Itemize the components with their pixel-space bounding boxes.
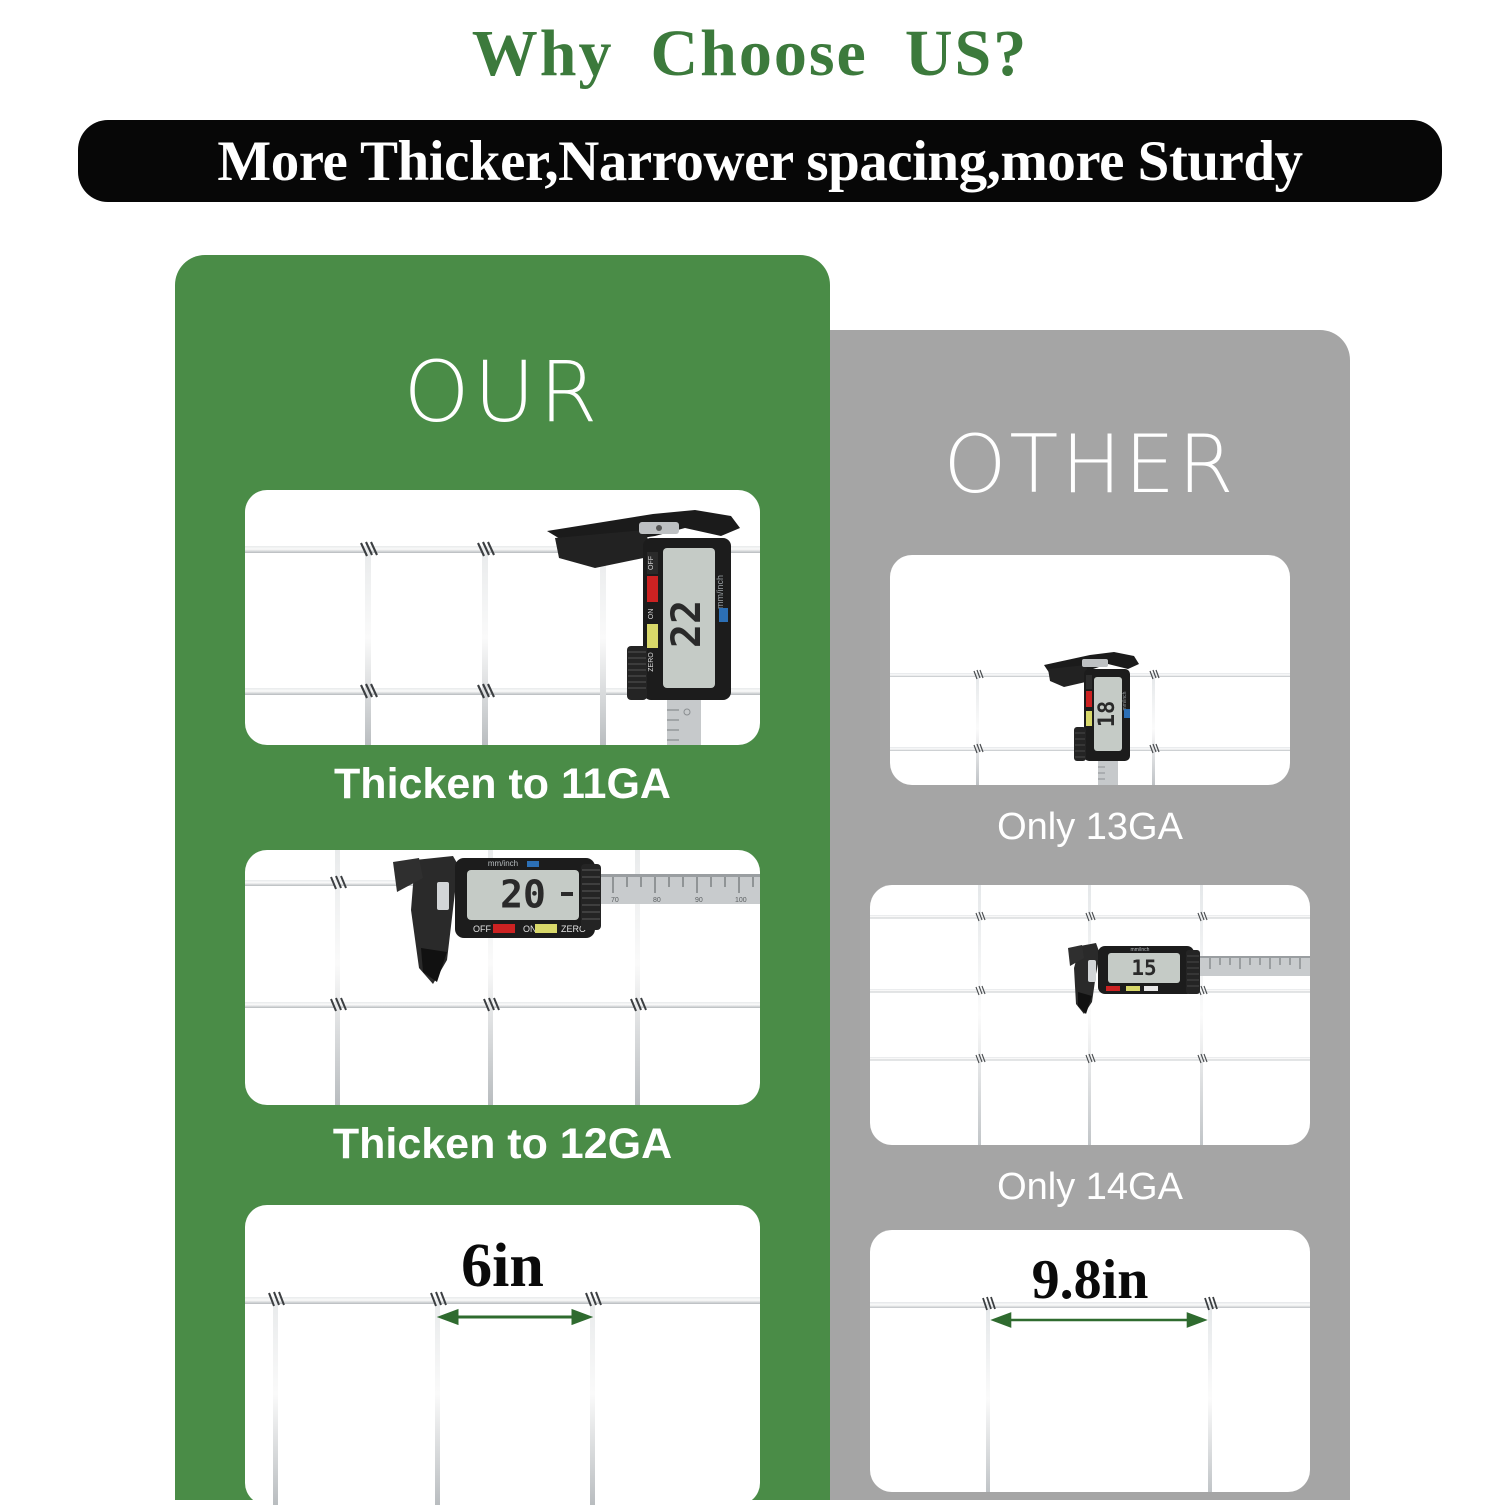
digital-caliper-vertical: 18 mm/inch (1042, 643, 1152, 785)
caliper-reading-13ga: 18 (1095, 701, 1120, 728)
panel-our: OUR (175, 255, 830, 1500)
card-98in: 9.8in (870, 1230, 1310, 1492)
card-13ga: 18 mm/inch (890, 555, 1290, 785)
svg-text:70: 70 (611, 897, 619, 904)
caliper-unit-label: mm/inch (1122, 691, 1128, 710)
digital-caliper-horizontal: 20 mm/inch OFF ON ZERO 7080 90100 (375, 852, 760, 1012)
panel-other: OTHER (830, 330, 1350, 1500)
caption-14ga: Only 14GA (830, 1168, 1350, 1206)
page-title: Why Choose US? (0, 16, 1500, 92)
heading-our: OUR (175, 350, 830, 434)
caliper-button-on[interactable]: ON (523, 924, 537, 934)
svg-text:100: 100 (735, 897, 747, 904)
caliper-unit-label: mm/inch (488, 859, 518, 868)
digital-caliper-vertical: 22 mm/inch OFF ON ZERO (535, 496, 750, 745)
spacing-diagram-graphic (245, 1205, 760, 1505)
caliper-unit-label: mm/inch (715, 575, 725, 609)
caption-12ga: Thicken to 12GA (175, 1123, 830, 1166)
caliper-button-on[interactable]: ON (648, 609, 655, 620)
card-14ga: 15 mm/inch (870, 885, 1310, 1145)
caliper-unit-label: mm/inch (1131, 947, 1150, 953)
caliper-button-off[interactable]: OFF (648, 556, 655, 570)
subtitle-banner: More Thicker,Narrower spacing,more Sturd… (78, 120, 1442, 202)
card-12ga: 20 mm/inch OFF ON ZERO 7080 90100 (245, 850, 760, 1105)
digital-caliper-horizontal: 15 mm/inch (1066, 940, 1310, 1032)
subtitle-text: More Thicker,Narrower spacing,more Sturd… (217, 129, 1302, 194)
caliper-reading-14ga: 15 (1131, 956, 1156, 980)
spacing-diagram-graphic (870, 1230, 1310, 1492)
caption-11ga: Thicken to 11GA (175, 763, 830, 806)
caliper-button-off[interactable]: OFF (473, 924, 491, 934)
svg-text:90: 90 (695, 897, 703, 904)
caliper-reading-11ga: 22 (664, 600, 710, 648)
caption-13ga: Only 13GA (830, 808, 1350, 846)
caliper-reading-12ga: 20 (500, 873, 546, 917)
card-11ga: 22 mm/inch OFF ON ZERO (245, 490, 760, 745)
card-6in: 6in (245, 1205, 760, 1505)
caliper-button-zero[interactable]: ZERO (648, 652, 655, 672)
heading-other: OTHER (830, 425, 1350, 505)
svg-text:80: 80 (653, 897, 661, 904)
